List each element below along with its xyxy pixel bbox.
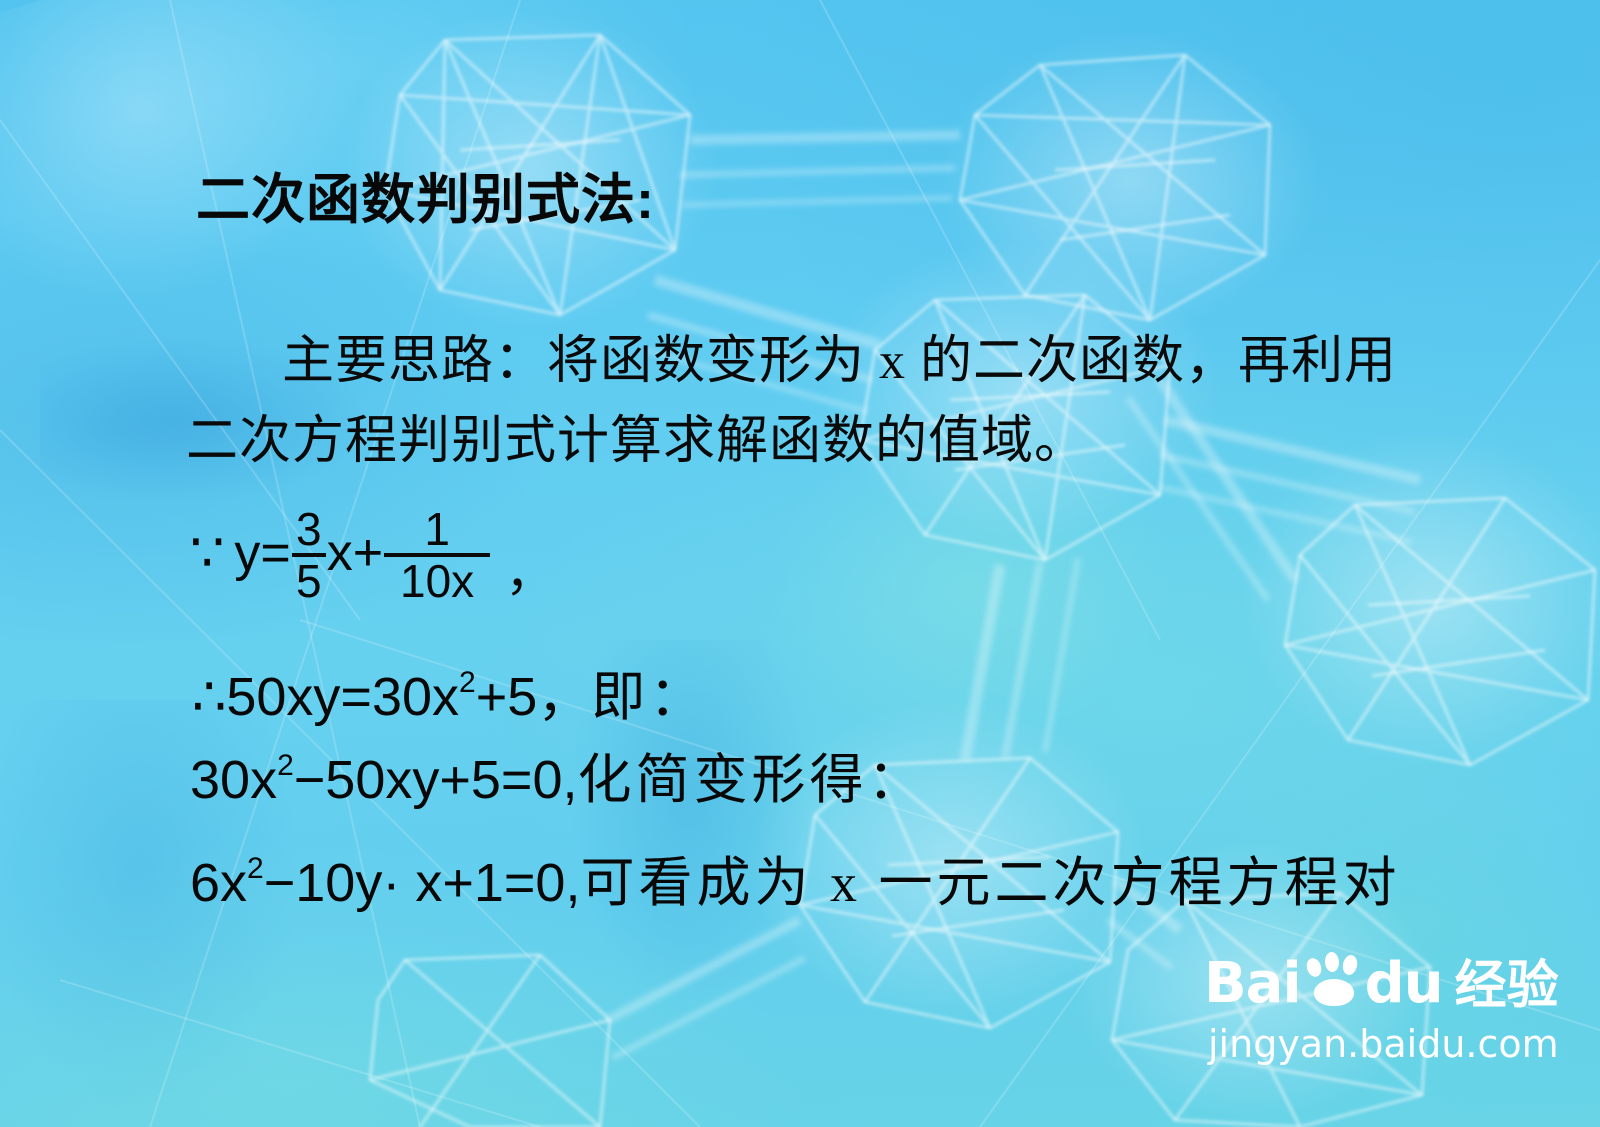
formula-chinese-tail: 化简变形得： — [578, 750, 926, 810]
page-title: 二次函数判别式法: — [196, 155, 655, 234]
formula-line-4: 6x2−10y· x+1=0,可看成为 x 一元二次方程方程对 — [190, 838, 1400, 917]
paw-print-icon — [1303, 952, 1363, 1010]
formula-expression-tail: +5， — [476, 667, 592, 727]
slide-canvas: 二次函数判别式法: 主要思路：将函数变形为 x 的二次函数，再利用二次方程判别式… — [0, 0, 1600, 1127]
fraction-denominator: 10x — [398, 558, 476, 604]
main-paragraph: 主要思路：将函数变形为 x 的二次函数，再利用二次方程判别式计算求解函数的值域。 — [186, 322, 1406, 482]
trailing-comma: ， — [505, 533, 555, 605]
formula-chinese-tail: 可看成为 x 一元二次方程方程对 — [580, 853, 1400, 913]
formula-mid: x+ — [327, 523, 383, 583]
formula-expression: 6x — [190, 853, 247, 913]
formula-line-2: ∴50xy=30x2+5，即： — [192, 652, 707, 731]
baidu-watermark: Bai du 经验 jingyan.baidu.com — [1204, 948, 1576, 1066]
baidu-brand-bai: Bai — [1204, 956, 1301, 1012]
formula-expression: 50xy=30x — [226, 667, 459, 727]
formula-expression-tail: −50xy+5=0, — [294, 750, 578, 810]
baidu-url: jingyan.baidu.com — [1204, 1022, 1576, 1066]
formula-chinese-tail: 即： — [591, 667, 707, 727]
baidu-logo: Bai du 经验 — [1204, 948, 1576, 1012]
formula-exponent: 2 — [459, 666, 476, 699]
formula-line-1: ∵ y= 3 5 x+ 1 10x ， — [190, 498, 555, 608]
formula-lhs: y= — [234, 523, 290, 583]
baidu-brand-du: du — [1365, 956, 1443, 1012]
because-symbol: ∵ — [190, 526, 224, 580]
formula-exponent: 2 — [277, 749, 294, 782]
slide-content: 二次函数判别式法: 主要思路：将函数变形为 x 的二次函数，再利用二次方程判别式… — [0, 0, 1600, 1127]
formula-exponent: 2 — [247, 852, 264, 885]
fraction-denominator: 5 — [294, 558, 324, 604]
fraction-three-fifths: 3 5 — [292, 506, 326, 604]
formula-expression: 30x — [190, 750, 277, 810]
therefore-symbol: ∴ — [192, 667, 226, 727]
formula-line-3: 30x2−50xy+5=0,化简变形得： — [190, 735, 926, 814]
fraction-one-over-ten-x: 1 10x — [384, 506, 490, 604]
fraction-numerator: 3 — [294, 506, 324, 552]
formula-expression-tail: −10y· x+1=0, — [264, 853, 581, 913]
baidu-brand-cn: 经验 — [1455, 960, 1559, 1012]
fraction-numerator: 1 — [422, 506, 452, 552]
